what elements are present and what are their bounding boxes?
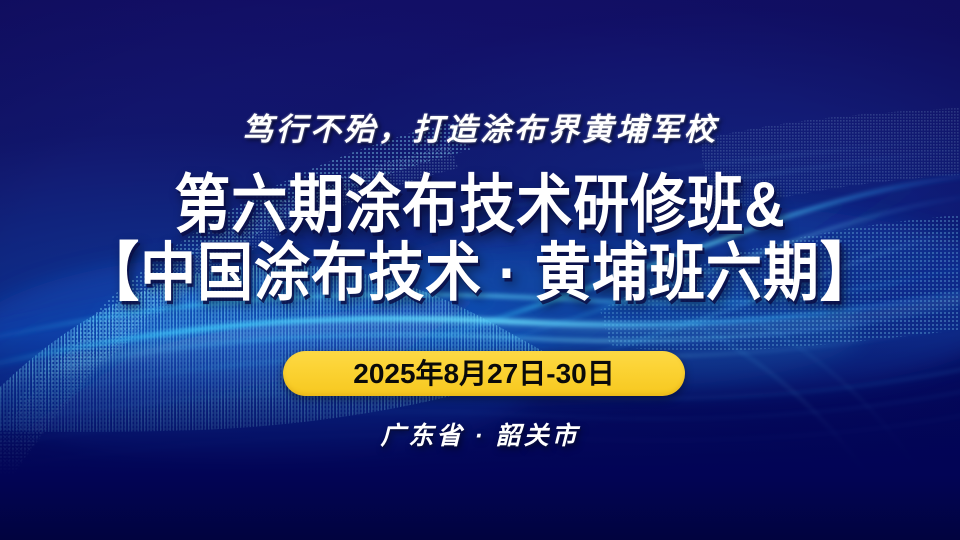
event-poster: 笃行不殆，打造涂布界黄埔军校 第六期涂布技术研修班& 【中国涂布技术 · 黄埔班… <box>0 0 960 540</box>
title-line-secondary: 【中国涂布技术 · 黄埔班六期】 <box>0 240 960 305</box>
event-date-text: 2025年8月27日-30日 <box>353 360 614 388</box>
poster-title: 第六期涂布技术研修班& 【中国涂布技术 · 黄埔班六期】 <box>0 172 960 297</box>
title-line-primary: 第六期涂布技术研修班& <box>0 172 960 237</box>
poster-content: 笃行不殆，打造涂布界黄埔军校 第六期涂布技术研修班& 【中国涂布技术 · 黄埔班… <box>0 0 960 540</box>
event-location: 广东省 · 韶关市 <box>0 416 960 452</box>
poster-tagline: 笃行不殆，打造涂布界黄埔军校 <box>0 104 960 149</box>
event-date-badge: 2025年8月27日-30日 <box>283 351 685 396</box>
